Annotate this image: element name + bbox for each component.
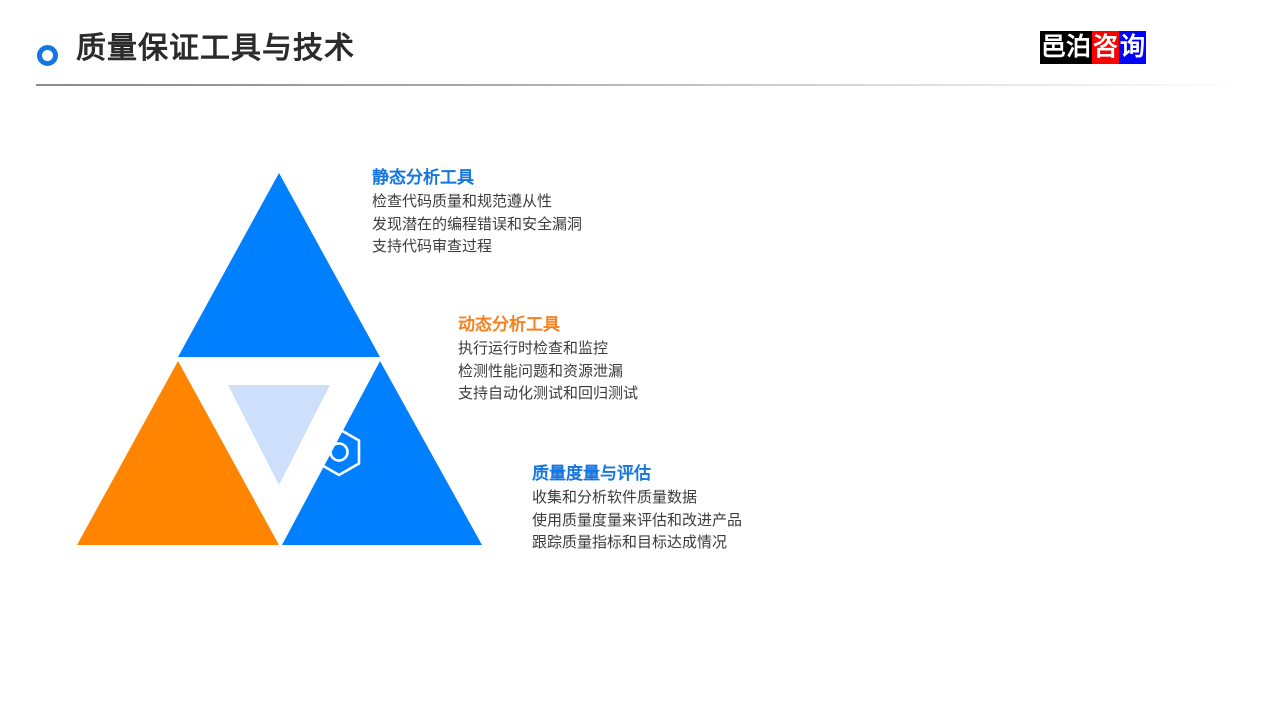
info-block-quality-metrics: 质量度量与评估 收集和分析软件质量数据 使用质量度量来评估和改进产品 跟踪质量指… bbox=[532, 463, 742, 555]
clover-icon bbox=[210, 615, 266, 671]
logo-segment-red: 咨 bbox=[1092, 31, 1119, 64]
page-title: 质量保证工具与技术 bbox=[76, 27, 355, 71]
logo-segment-blue: 询 bbox=[1119, 31, 1146, 64]
brand-logo: 邑泊 咨 询 bbox=[1040, 31, 1146, 64]
info-block-line: 支持代码审查过程 bbox=[372, 236, 582, 259]
info-block-line: 收集和分析软件质量数据 bbox=[532, 487, 742, 510]
info-block-line: 支持自动化测试和回归测试 bbox=[458, 383, 638, 406]
info-block-line: 跟踪质量指标和目标达成情况 bbox=[532, 532, 742, 555]
info-block-line: 使用质量度量来评估和改进产品 bbox=[532, 510, 742, 533]
info-block-heading: 静态分析工具 bbox=[372, 167, 582, 189]
info-block-static-analysis: 静态分析工具 检查代码质量和规范遵从性 发现潜在的编程错误和安全漏洞 支持代码审… bbox=[372, 167, 582, 259]
circle-ring-icon bbox=[37, 45, 58, 66]
info-block-line: 检测性能问题和资源泄漏 bbox=[458, 361, 638, 384]
header-divider bbox=[36, 84, 1252, 86]
info-block-dynamic-analysis: 动态分析工具 执行运行时检查和监控 检测性能问题和资源泄漏 支持自动化测试和回归… bbox=[458, 314, 638, 406]
info-block-line: 发现潜在的编程错误和安全漏洞 bbox=[372, 214, 582, 237]
triangle-segment-top bbox=[178, 173, 380, 357]
info-block-heading: 质量度量与评估 bbox=[532, 463, 742, 485]
triangle-segment-center bbox=[228, 385, 330, 485]
info-block-heading: 动态分析工具 bbox=[458, 314, 638, 336]
document-icon bbox=[417, 615, 467, 671]
logo-segment-black: 邑泊 bbox=[1040, 31, 1092, 64]
info-block-line: 执行运行时检查和监控 bbox=[458, 338, 638, 361]
info-block-line: 检查代码质量和规范遵从性 bbox=[372, 191, 582, 214]
